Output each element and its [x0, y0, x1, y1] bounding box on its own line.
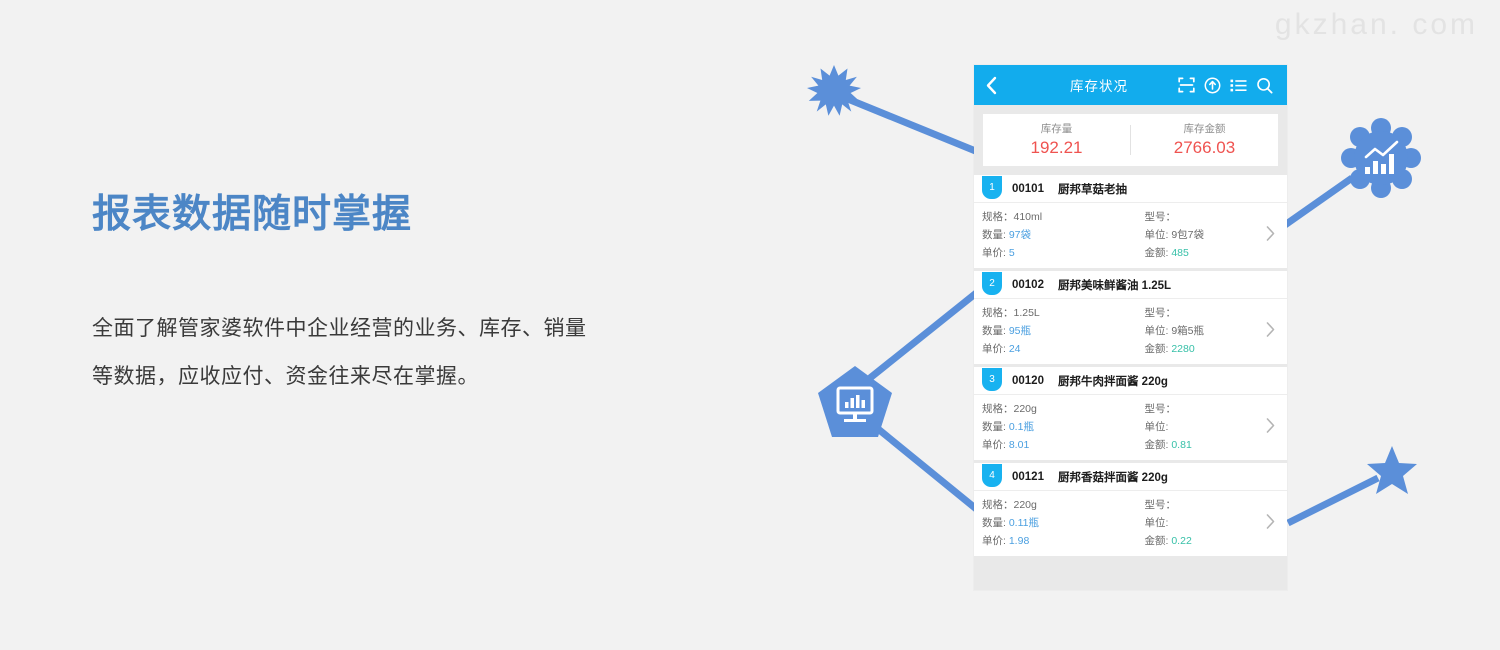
stat-quantity: 库存量 192.21: [983, 122, 1130, 159]
label-model: 型号：: [1145, 211, 1177, 223]
label-amount: 金额:: [1145, 247, 1169, 259]
label-unit: 单位:: [1145, 421, 1169, 433]
app-topbar: 库存状况: [974, 65, 1287, 105]
item-code: 00101: [1012, 183, 1044, 195]
item-unit: 9箱5瓶: [1171, 325, 1204, 337]
list-item[interactable]: 4 00121 厨邦香菇拌面酱 220g 规格：220g 数量: 0.11瓶 单…: [974, 463, 1287, 556]
item-index-badge: 3: [982, 368, 1002, 391]
item-name: 厨邦香菇拌面酱 220g: [1058, 469, 1168, 485]
label-model: 型号：: [1145, 403, 1177, 415]
topbar-tools: [1178, 77, 1275, 94]
list-item-header: 3 00120 厨邦牛肉拌面酱 220g: [974, 367, 1287, 395]
item-qty: 0.11瓶: [1009, 517, 1039, 529]
label-model: 型号：: [1145, 499, 1177, 511]
label-qty: 数量:: [982, 325, 1006, 337]
item-qty-row: 数量: 0.11瓶: [982, 514, 1131, 532]
burst-star-icon: [806, 62, 862, 118]
flower-chart-badge: [1341, 118, 1421, 198]
item-amount-row: 金额: 0.22: [1145, 532, 1288, 550]
item-price: 1.98: [1009, 535, 1029, 547]
item-spec-row: 规格：410ml: [982, 208, 1131, 226]
list-footer-space: [974, 559, 1287, 590]
label-unit: 单位:: [1145, 325, 1169, 337]
label-unit: 单位:: [1145, 517, 1169, 529]
label-model: 型号：: [1145, 307, 1177, 319]
item-spec-row: 规格：1.25L: [982, 304, 1131, 322]
label-price: 单价:: [982, 439, 1006, 451]
star-badge: [1366, 444, 1418, 496]
label-price: 单价:: [982, 247, 1006, 259]
item-spec-row: 规格：220g: [982, 496, 1131, 514]
chevron-right-icon[interactable]: [1266, 321, 1275, 342]
item-qty: 95瓶: [1009, 325, 1031, 337]
chevron-right-icon[interactable]: [1266, 513, 1275, 534]
topbar-title: 库存状况: [1008, 75, 1178, 95]
list-icon[interactable]: [1230, 78, 1247, 93]
circle-up-arrow-icon[interactable]: [1204, 77, 1221, 94]
chevron-left-icon: [986, 76, 997, 95]
item-model-row: 型号：: [1145, 496, 1288, 514]
item-amount-row: 金额: 485: [1145, 244, 1288, 262]
item-index-badge: 4: [982, 464, 1002, 487]
back-button[interactable]: [986, 76, 1008, 95]
list-item-body: 规格：1.25L 数量: 95瓶 单价: 24 型号： 单位: 9箱5瓶 金额:…: [974, 299, 1287, 364]
item-name: 厨邦美味鲜酱油 1.25L: [1058, 277, 1171, 293]
item-qty: 97袋: [1009, 229, 1031, 241]
summary-card: 库存量 192.21 库存金额 2766.03: [983, 114, 1278, 166]
label-spec: 规格：: [982, 403, 1014, 415]
page-root: gkzhan. com 报表数据随时掌握 全面了解管家婆软件中企业经营的业务、库…: [0, 0, 1500, 650]
burst-star-badge: [806, 62, 862, 118]
label-qty: 数量:: [982, 421, 1006, 433]
item-amount: 2280: [1171, 343, 1194, 355]
list-item-body: 规格：220g 数量: 0.1瓶 单价: 8.01 型号： 单位: 金额: 0.…: [974, 395, 1287, 460]
label-price: 单价:: [982, 535, 1006, 547]
item-price-row: 单价: 1.98: [982, 532, 1131, 550]
item-price-row: 单价: 5: [982, 244, 1131, 262]
five-point-star-icon: [1366, 444, 1418, 496]
search-icon[interactable]: [1256, 77, 1273, 94]
item-spec: 220g: [1014, 403, 1037, 415]
list-item-header: 4 00121 厨邦香菇拌面酱 220g: [974, 463, 1287, 491]
item-name: 厨邦草菇老抽: [1058, 181, 1127, 197]
scan-frame-icon[interactable]: [1178, 77, 1195, 93]
item-index-badge: 2: [982, 272, 1002, 295]
item-spec: 1.25L: [1014, 307, 1040, 319]
label-qty: 数量:: [982, 229, 1006, 241]
item-model-row: 型号：: [1145, 400, 1288, 418]
item-price: 8.01: [1009, 439, 1029, 451]
item-qty-row: 数量: 97袋: [982, 226, 1131, 244]
chevron-right-icon[interactable]: [1266, 417, 1275, 438]
item-unit: 9包7袋: [1171, 229, 1204, 241]
item-model-row: 型号：: [1145, 304, 1288, 322]
stat-amount: 库存金额 2766.03: [1131, 122, 1278, 159]
stat-quantity-value: 192.21: [983, 137, 1130, 159]
item-spec: 220g: [1014, 499, 1037, 511]
list-item[interactable]: 3 00120 厨邦牛肉拌面酱 220g 规格：220g 数量: 0.1瓶 单价…: [974, 367, 1287, 460]
item-price: 24: [1009, 343, 1021, 355]
item-amount: 485: [1171, 247, 1189, 259]
item-amount: 0.22: [1171, 535, 1191, 547]
label-amount: 金额:: [1145, 343, 1169, 355]
item-spec: 410ml: [1014, 211, 1043, 223]
item-price-row: 单价: 24: [982, 340, 1131, 358]
list-item-body: 规格：220g 数量: 0.11瓶 单价: 1.98 型号： 单位: 金额: 0…: [974, 491, 1287, 556]
list-item[interactable]: 1 00101 厨邦草菇老抽 规格：410ml 数量: 97袋 单价: 5 型号…: [974, 175, 1287, 268]
item-code: 00121: [1012, 471, 1044, 483]
item-amount-row: 金额: 0.81: [1145, 436, 1288, 454]
label-amount: 金额:: [1145, 535, 1169, 547]
item-name: 厨邦牛肉拌面酱 220g: [1058, 373, 1168, 389]
phone-screen: 库存状况: [974, 65, 1287, 590]
item-model-row: 型号：: [1145, 208, 1288, 226]
item-code: 00120: [1012, 375, 1044, 387]
item-qty-row: 数量: 95瓶: [982, 322, 1131, 340]
pentagon-monitor-badge: [816, 364, 894, 442]
monitor-bar-chart-icon: [816, 364, 894, 442]
item-amount: 0.81: [1171, 439, 1191, 451]
list-item-header: 1 00101 厨邦草菇老抽: [974, 175, 1287, 203]
item-qty: 0.1瓶: [1009, 421, 1034, 433]
item-index-badge: 1: [982, 176, 1002, 199]
stat-quantity-label: 库存量: [983, 122, 1130, 137]
label-spec: 规格：: [982, 499, 1014, 511]
item-price: 5: [1009, 247, 1015, 259]
stat-amount-value: 2766.03: [1131, 137, 1278, 159]
inventory-list: 1 00101 厨邦草菇老抽 规格：410ml 数量: 97袋 单价: 5 型号…: [974, 175, 1287, 590]
item-price-row: 单价: 8.01: [982, 436, 1131, 454]
stat-amount-label: 库存金额: [1131, 122, 1278, 137]
label-qty: 数量:: [982, 517, 1006, 529]
item-code: 00102: [1012, 279, 1044, 291]
label-unit: 单位:: [1145, 229, 1169, 241]
list-item-body: 规格：410ml 数量: 97袋 单价: 5 型号： 单位: 9包7袋 金额: …: [974, 203, 1287, 268]
item-amount-row: 金额: 2280: [1145, 340, 1288, 358]
chevron-right-icon[interactable]: [1266, 225, 1275, 246]
item-qty-row: 数量: 0.1瓶: [982, 418, 1131, 436]
bar-line-chart-icon: [1341, 118, 1421, 198]
label-spec: 规格：: [982, 211, 1014, 223]
item-spec-row: 规格：220g: [982, 400, 1131, 418]
label-amount: 金额:: [1145, 439, 1169, 451]
list-item[interactable]: 2 00102 厨邦美味鲜酱油 1.25L 规格：1.25L 数量: 95瓶 单…: [974, 271, 1287, 364]
list-item-header: 2 00102 厨邦美味鲜酱油 1.25L: [974, 271, 1287, 299]
label-price: 单价:: [982, 343, 1006, 355]
label-spec: 规格：: [982, 307, 1014, 319]
